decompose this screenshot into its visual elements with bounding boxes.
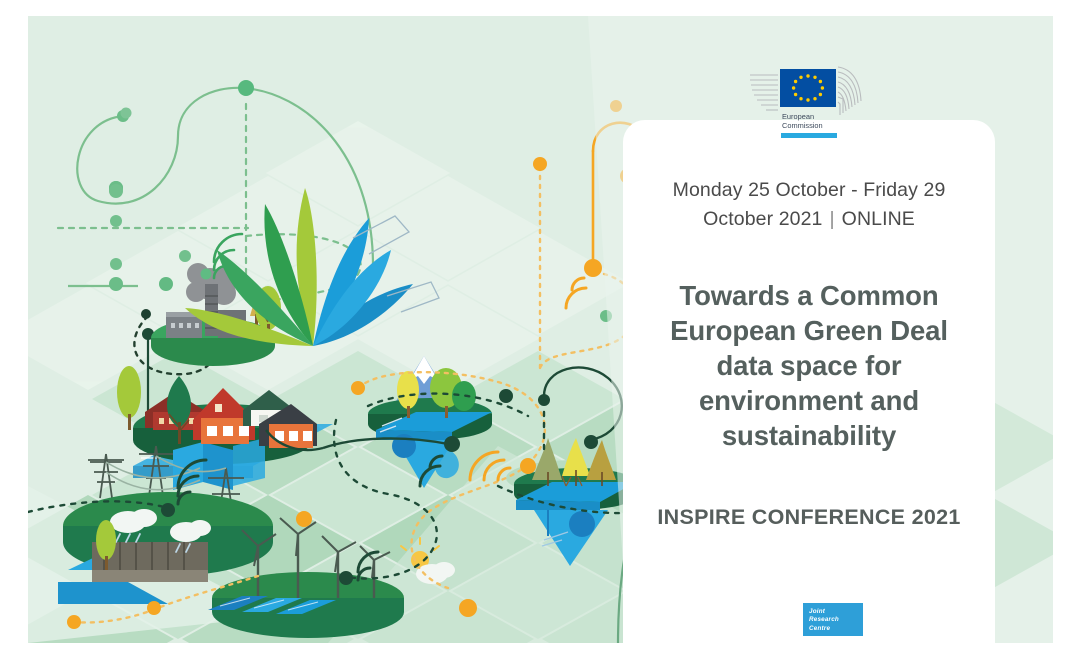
european-commission-logo: European Commission	[748, 61, 868, 146]
conference-name: INSPIRE CONFERENCE 2021	[649, 505, 969, 530]
event-title-line-3: data space for	[649, 348, 969, 383]
jrc-line-2: Research	[809, 616, 863, 624]
event-title-line-2: European Green Deal	[649, 313, 969, 348]
date-separator: |	[823, 208, 842, 230]
event-mode: ONLINE	[842, 208, 915, 230]
conference-banner: European Commission Monday 25 October - …	[28, 16, 1053, 643]
event-date-text: October 2021	[703, 208, 822, 230]
event-title-line-4: environment and	[649, 383, 969, 418]
event-date-line-2: October 2021|ONLINE	[649, 205, 969, 234]
jrc-line-3: Centre	[809, 625, 863, 633]
event-title-line-5: sustainability	[649, 418, 969, 453]
eu-logo-line2: Commission	[782, 121, 823, 130]
info-card: Monday 25 October - Friday 29 October 20…	[623, 120, 995, 643]
event-title: Towards a Common European Green Deal dat…	[649, 278, 969, 453]
event-date-line-1: Monday 25 October - Friday 29	[649, 176, 969, 205]
jrc-line-1: Joint	[809, 608, 863, 616]
eu-logo-line1: European	[782, 112, 814, 121]
event-title-line-1: Towards a Common	[649, 278, 969, 313]
joint-research-centre-logo: Joint Research Centre	[803, 603, 863, 636]
